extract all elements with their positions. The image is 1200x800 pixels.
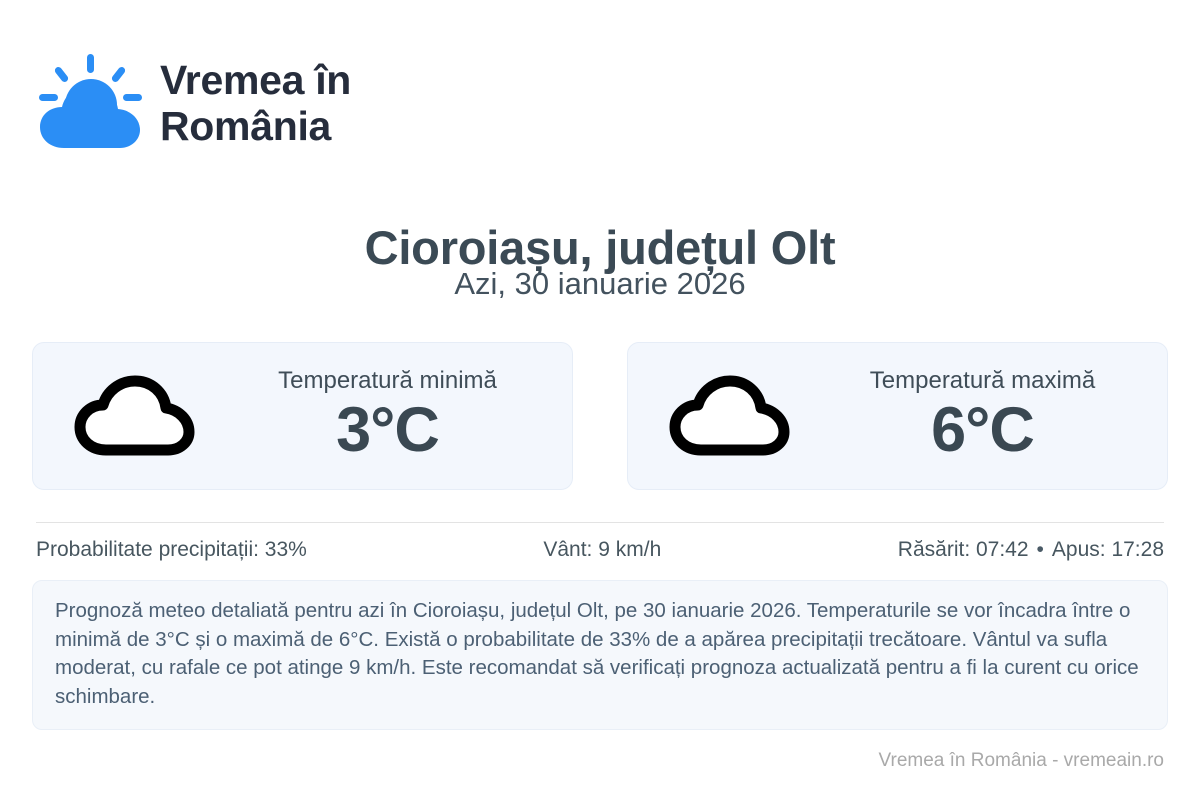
brand-name: Vremea în România (160, 58, 351, 150)
wind-stat: Vânt: 9 km/h (307, 538, 898, 562)
temperature-card-min: Temperatură minimă 3°C (32, 342, 573, 490)
cloud-icon (73, 372, 197, 460)
stats-divider (36, 522, 1164, 523)
brand-logo[interactable]: Vremea în România (36, 52, 351, 156)
temperature-card-max: Temperatură maximă 6°C (627, 342, 1168, 490)
temperature-cards: Temperatură minimă 3°C Temperatură maxim… (32, 342, 1168, 490)
temperature-card-max-value: 6°C (931, 396, 1034, 464)
sunrise-value: Răsărit: 07:42 (898, 538, 1029, 561)
page-subtitle: Azi, 30 ianuarie 2026 (0, 266, 1200, 302)
temperature-card-min-label: Temperatură minimă (278, 368, 497, 394)
stats-row: Probabilitate precipitații: 33% Vânt: 9 … (36, 538, 1164, 562)
temperature-card-min-value: 3°C (336, 396, 439, 464)
footer: Vremea în România - vremeain.ro (0, 750, 1164, 772)
sun-times-stat: Răsărit: 07:42•Apus: 17:28 (898, 538, 1164, 562)
forecast-description-box: Prognoză meteo detaliată pentru azi în C… (32, 580, 1168, 730)
precipitation-stat: Probabilitate precipitații: 33% (36, 538, 307, 562)
sunset-value: Apus: 17:28 (1052, 538, 1164, 561)
temperature-card-max-body: Temperatură maximă 6°C (816, 368, 1149, 464)
temperature-card-min-body: Temperatură minimă 3°C (221, 368, 554, 464)
sun-cloud-icon (36, 52, 144, 156)
weather-page: Vremea în România Cioroiașu, județul Olt… (0, 0, 1200, 800)
forecast-description-text: Prognoză meteo detaliată pentru azi în C… (55, 597, 1145, 711)
cloud-icon (668, 372, 792, 460)
temperature-card-max-label: Temperatură maximă (870, 368, 1095, 394)
sun-times-separator: • (1029, 538, 1052, 561)
